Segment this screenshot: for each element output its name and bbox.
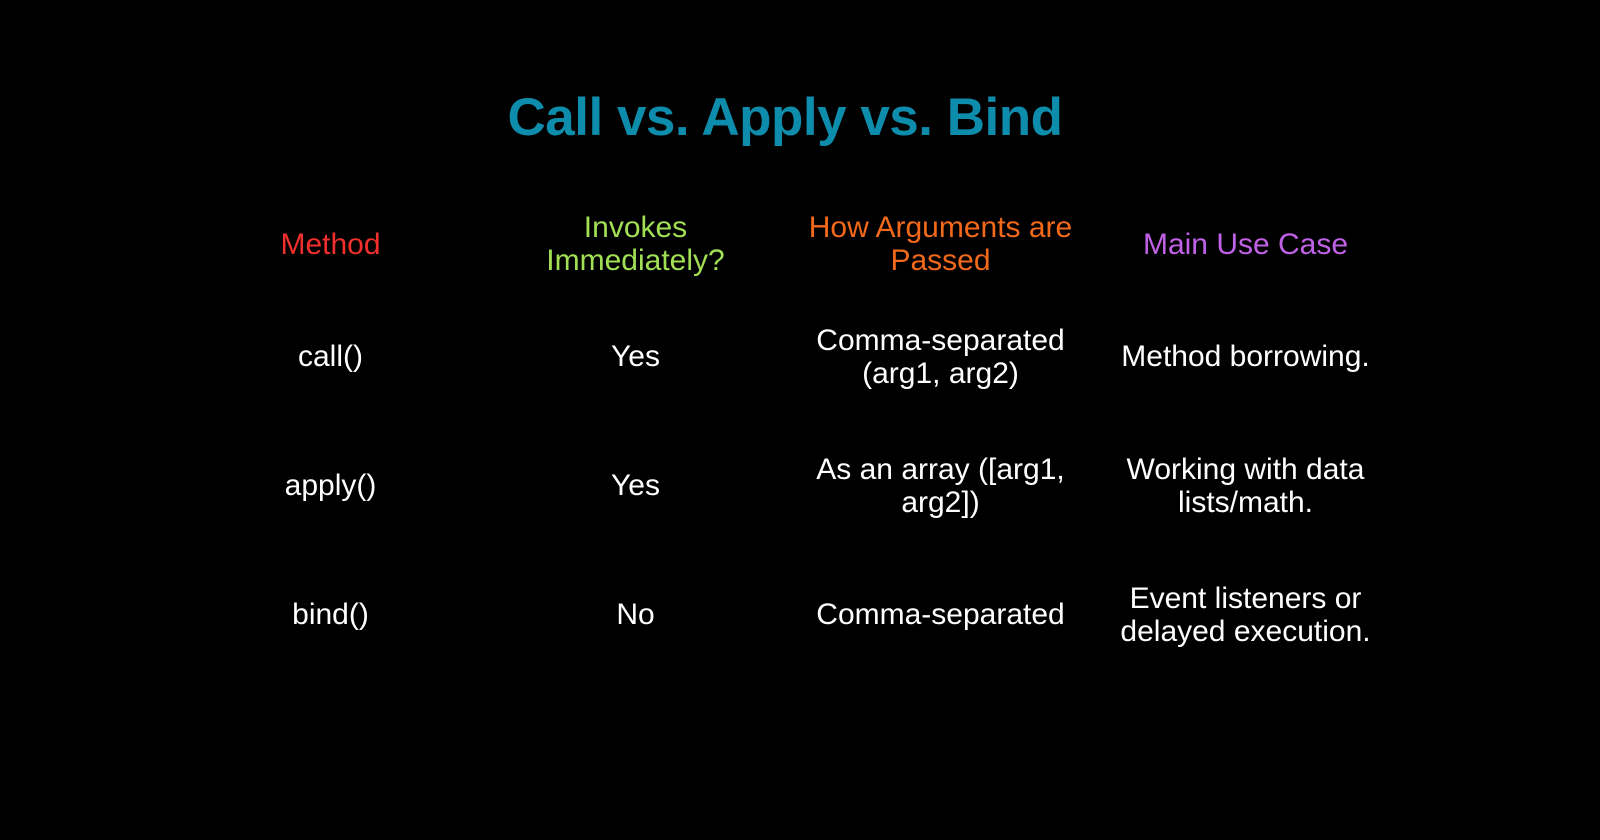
table-row: bind() No Comma-separated Event listener… — [178, 550, 1398, 679]
cell-method-value: call() — [178, 340, 483, 373]
cell-invokes: Yes — [483, 421, 788, 550]
cell-method-value: bind() — [178, 598, 483, 631]
column-header-arguments-label: How Arguments are Passed — [788, 211, 1093, 277]
cell-method: call() — [178, 292, 483, 421]
cell-invokes-value: Yes — [483, 340, 788, 373]
table-row: apply() Yes As an array ([arg1, arg2]) W… — [178, 421, 1398, 550]
column-header-arguments: How Arguments are Passed — [788, 196, 1093, 292]
comparison-table: Method Invokes Immediately? How Argument… — [178, 196, 1398, 679]
cell-use-case: Event listeners or delayed execution. — [1093, 550, 1398, 679]
column-header-method-label: Method — [178, 228, 483, 261]
cell-use-case: Method borrowing. — [1093, 292, 1398, 421]
slide-canvas: Call vs. Apply vs. Bind Method Invokes I… — [0, 0, 1600, 840]
cell-use-case-value: Method borrowing. — [1093, 340, 1398, 373]
cell-use-case-value: Event listeners or delayed execution. — [1093, 582, 1398, 648]
cell-use-case-value: Working with data lists/math. — [1093, 453, 1398, 519]
cell-arguments-value: Comma-separated (arg1, arg2) — [788, 324, 1093, 390]
cell-arguments: As an array ([arg1, arg2]) — [788, 421, 1093, 550]
column-header-invokes-label: Invokes Immediately? — [483, 211, 788, 277]
column-header-method: Method — [178, 196, 483, 292]
cell-arguments-value: Comma-separated — [788, 598, 1093, 631]
table-row: call() Yes Comma-separated (arg1, arg2) … — [178, 292, 1398, 421]
column-header-use-case: Main Use Case — [1093, 196, 1398, 292]
cell-arguments: Comma-separated (arg1, arg2) — [788, 292, 1093, 421]
cell-method: bind() — [178, 550, 483, 679]
cell-arguments: Comma-separated — [788, 550, 1093, 679]
cell-invokes-value: No — [483, 598, 788, 631]
cell-use-case: Working with data lists/math. — [1093, 421, 1398, 550]
page-title: Call vs. Apply vs. Bind — [0, 88, 1570, 149]
cell-invokes-value: Yes — [483, 469, 788, 502]
column-header-use-case-label: Main Use Case — [1093, 228, 1398, 261]
table-header-row: Method Invokes Immediately? How Argument… — [178, 196, 1398, 292]
cell-arguments-value: As an array ([arg1, arg2]) — [788, 453, 1093, 519]
cell-invokes: Yes — [483, 292, 788, 421]
cell-method-value: apply() — [178, 469, 483, 502]
cell-invokes: No — [483, 550, 788, 679]
cell-method: apply() — [178, 421, 483, 550]
column-header-invokes: Invokes Immediately? — [483, 196, 788, 292]
